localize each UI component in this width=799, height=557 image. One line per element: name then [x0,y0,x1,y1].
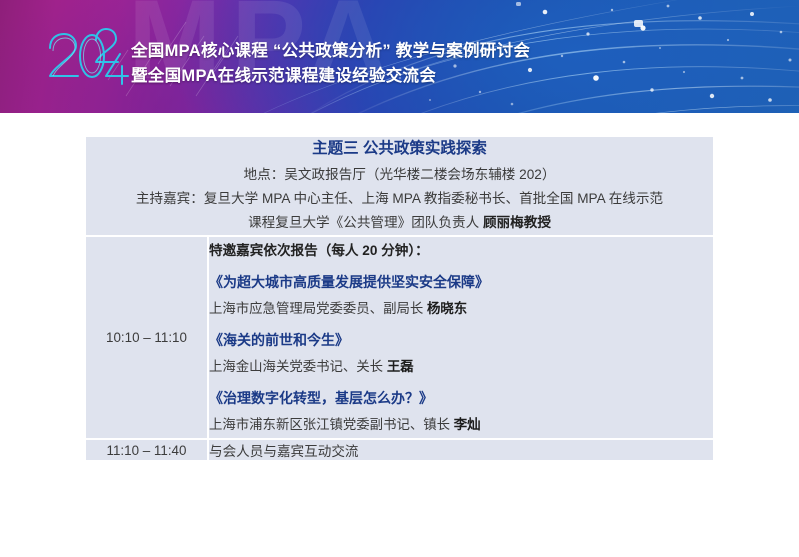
banner-title-line-1: 全国MPA核心课程 “公共政策分析” 教学与案例研讨会 [131,39,530,64]
schedule-sheet: 主题三 公共政策实践探索 地点：吴文政报告厅（光华楼二楼会场东辅楼 202） 主… [0,113,799,557]
year-2024-logo [44,26,130,88]
schedule-header-row: 主题三 公共政策实践探索 地点：吴文政报告厅（光华楼二楼会场东辅楼 202） 主… [86,137,713,236]
talk-speaker-name-1: 杨晓东 [427,301,467,316]
event-banner: MPA 全国MPA核心课程 “公共政策分析” 教学与案例研讨会 暨全国MPA在线… [0,0,799,113]
talk-speaker-1: 上海市应急管理局党委委员、副局长 杨晓东 [209,296,713,322]
schedule-table: 主题三 公共政策实践探索 地点：吴文政报告厅（光华楼二楼会场东辅楼 202） 主… [86,137,713,462]
session-host-name: 顾丽梅教授 [483,215,551,230]
talk-title-2: 《海关的前世和今生》 [209,326,713,354]
talk-speaker-2: 上海金山海关党委书记、关长 王磊 [209,354,713,380]
talks-lead-in: 特邀嘉宾依次报告（每人 20 分钟）： [209,237,713,264]
table-row: 10:10 – 11:10 特邀嘉宾依次报告（每人 20 分钟）： 《为超大城市… [86,236,713,439]
banner-title-line-2: 暨全国MPA在线示范课程建设经验交流会 [131,64,530,89]
session-time-slot-1: 10:10 – 11:10 [86,236,208,439]
session-content-2: 与会人员与嘉宾互动交流 [208,439,713,461]
session-content-1: 特邀嘉宾依次报告（每人 20 分钟）： 《为超大城市高质量发展提供坚实安全保障》… [208,236,713,439]
table-row: 11:10 – 11:40 与会人员与嘉宾互动交流 [86,439,713,461]
session-host-line-1: 主持嘉宾：复旦大学 MPA 中心主任、上海 MPA 教指委秘书长、首批全国 MP… [86,187,713,211]
talk-speaker-name-3: 李灿 [454,417,481,432]
talk-affiliation-1: 上海市应急管理局党委委员、副局长 [209,301,427,316]
session-venue: 地点：吴文政报告厅（光华楼二楼会场东辅楼 202） [86,163,713,187]
session-header-cell: 主题三 公共政策实践探索 地点：吴文政报告厅（光华楼二楼会场东辅楼 202） 主… [86,137,713,236]
talk-title-1: 《为超大城市高质量发展提供坚实安全保障》 [209,268,713,296]
talk-affiliation-3: 上海市浦东新区张江镇党委副书记、镇长 [209,417,454,432]
talk-speaker-name-2: 王磊 [387,359,414,374]
session-time-slot-2: 11:10 – 11:40 [86,439,208,461]
banner-title-block: 全国MPA核心课程 “公共政策分析” 教学与案例研讨会 暨全国MPA在线示范课程… [131,39,530,89]
session-title: 主题三 公共政策实践探索 [86,137,713,161]
session-host-prefix: 课程复旦大学《公共管理》团队负责人 [248,215,483,230]
session-host-line-2: 课程复旦大学《公共管理》团队负责人 顾丽梅教授 [86,211,713,235]
talk-speaker-3: 上海市浦东新区张江镇党委副书记、镇长 李灿 [209,412,713,438]
talk-title-3: 《治理数字化转型，基层怎么办？》 [209,384,713,412]
talk-affiliation-2: 上海金山海关党委书记、关长 [209,359,387,374]
